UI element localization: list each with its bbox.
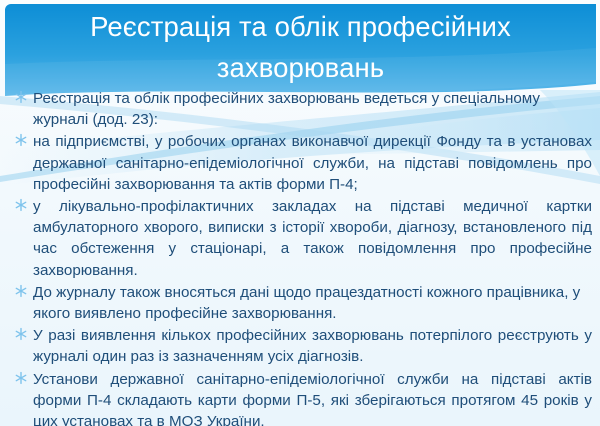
page-title-line-1: Реєстрація та облік професійних bbox=[90, 6, 511, 47]
page-title: Реєстрація та облік професійних захворюв… bbox=[5, 6, 596, 92]
list-item-text: У разі виявлення кількох професійних зах… bbox=[33, 327, 592, 365]
page-title-line-2: захворювань bbox=[217, 47, 384, 88]
slide-canvas: Реєстрація та облік професійних захворюв… bbox=[0, 0, 600, 426]
list-item: у лікувально-профілактичних закладах на … bbox=[0, 196, 600, 281]
content-bullet-list: Реєстрація та облік професійних захворюв… bbox=[0, 88, 600, 426]
list-item-text: Реєстрація та облік професійних захворюв… bbox=[33, 90, 540, 128]
list-item-text: у лікувально-профілактичних закладах на … bbox=[33, 198, 592, 279]
list-item-text: Установи державної санітарно-епідеміолог… bbox=[33, 371, 592, 426]
asterisk-bullet-icon bbox=[14, 133, 28, 149]
asterisk-bullet-icon bbox=[14, 284, 28, 300]
asterisk-bullet-icon bbox=[14, 90, 28, 106]
list-item-text: До журналу також вносяться дані щодо пра… bbox=[33, 284, 580, 322]
list-item: До журналу також вносяться дані щодо пра… bbox=[0, 282, 600, 324]
list-item-text: на підприємстві, у робочих органах викон… bbox=[33, 133, 592, 192]
list-item: Установи державної санітарно-епідеміолог… bbox=[0, 369, 600, 426]
asterisk-bullet-icon bbox=[14, 198, 28, 214]
list-item: на підприємстві, у робочих органах викон… bbox=[0, 131, 600, 195]
list-item: Реєстрація та облік професійних захворюв… bbox=[0, 88, 600, 130]
asterisk-bullet-icon bbox=[14, 327, 28, 343]
list-item: У разі виявлення кількох професійних зах… bbox=[0, 325, 600, 367]
asterisk-bullet-icon bbox=[14, 371, 28, 387]
